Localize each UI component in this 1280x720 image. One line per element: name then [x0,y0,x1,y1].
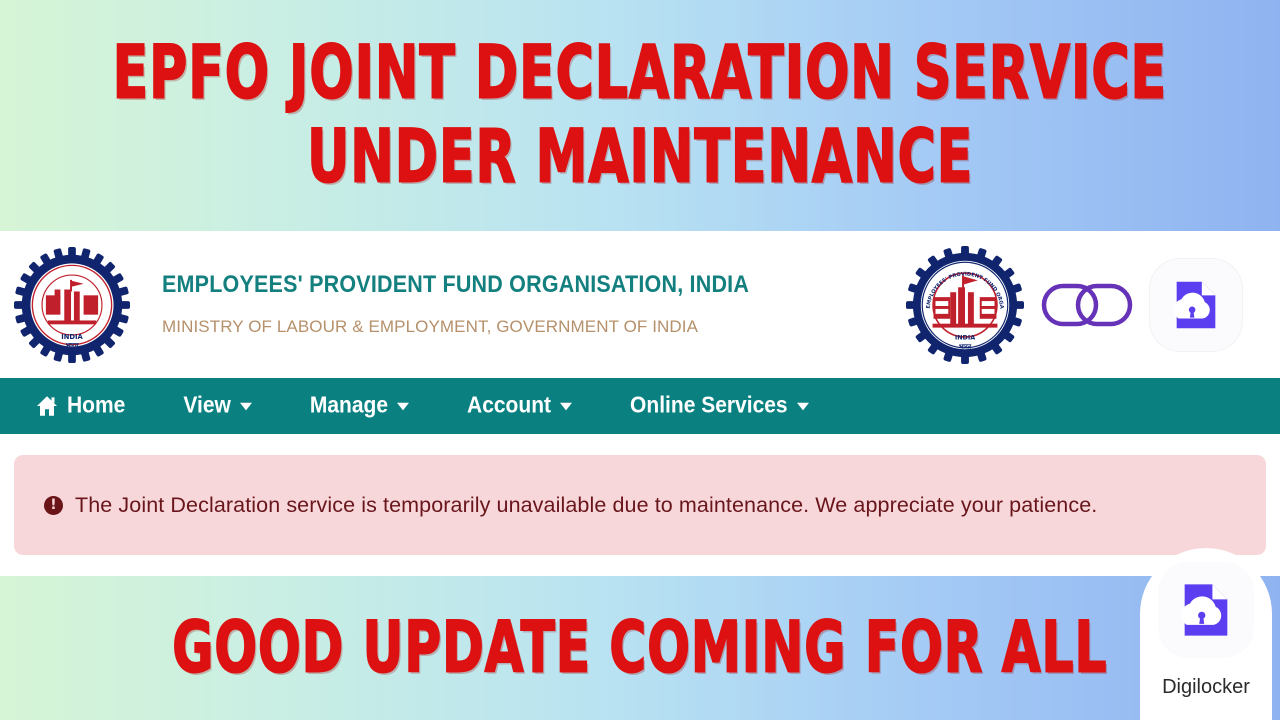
nav-item-home-label: Home [67,393,125,419]
digilocker-icon[interactable] [1150,259,1242,351]
nav-item-account[interactable]: Account [467,393,572,419]
svg-text:INDIA: INDIA [61,332,83,340]
digilocker-icon [1158,562,1254,658]
chevron-down-icon [240,402,252,410]
promo-headline-line-1: EPFO JOINT DECLARATION SERVICE [113,37,1167,111]
promo-banner-top: EPFO JOINT DECLARATION SERVICE UNDER MAI… [0,0,1280,231]
svg-text:भारत: भारत [959,342,972,350]
page-root: EPFO JOINT DECLARATION SERVICE UNDER MAI… [0,0,1280,720]
maintenance-alert-message: The Joint Declaration service is tempora… [75,493,1097,518]
site-header: INDIA भारत EMPLOYEES' PROVIDENT FUND ORG… [0,231,1280,378]
chain-link-icon [1040,274,1134,336]
alert-region: ! The Joint Declaration service is tempo… [0,434,1280,576]
nav-item-manage[interactable]: Manage [310,393,409,419]
nav-item-view[interactable]: View [183,393,251,419]
digilocker-floating-button[interactable]: Digilocker [1140,548,1272,720]
exclamation-circle-icon: ! [44,496,63,515]
svg-text:INDIA: INDIA [955,333,975,341]
epfo-emblem-icon: INDIA भारत [14,247,130,363]
organisation-title: EMPLOYEES' PROVIDENT FUND ORGANISATION, … [162,271,749,299]
header-logo-group: EMPLOYEES' PROVIDENT FUND ORGANISATION [906,246,1280,364]
chevron-down-icon [560,402,572,410]
ministry-subtitle: MINISTRY OF LABOUR & EMPLOYMENT, GOVERNM… [162,317,749,337]
nav-item-view-label: View [183,393,230,419]
home-icon [36,395,58,417]
promo-headline-line-2: UNDER MAINTENANCE [307,120,973,194]
promo-headline-line-3: GOOD UPDATE COMING FOR ALL [172,612,1107,684]
nav-item-online-services[interactable]: Online Services [630,393,809,419]
nav-item-online-services-label: Online Services [630,393,788,419]
header-branding: INDIA भारत EMPLOYEES' PROVIDENT FUND ORG… [0,247,749,363]
nav-item-home[interactable]: Home [36,393,125,419]
digilocker-label: Digilocker [1162,676,1250,699]
chevron-down-icon [397,402,409,410]
maintenance-alert: ! The Joint Declaration service is tempo… [14,455,1266,555]
header-title-block: EMPLOYEES' PROVIDENT FUND ORGANISATION, … [162,272,749,337]
nav-item-account-label: Account [467,393,551,419]
epfo-emblem-icon: EMPLOYEES' PROVIDENT FUND ORGANISATION [906,246,1024,364]
svg-text:भारत: भारत [65,341,79,349]
main-navigation: Home View Manage Account Online Services [0,378,1280,434]
nav-item-manage-label: Manage [310,393,388,419]
promo-banner-bottom: GOOD UPDATE COMING FOR ALL [0,576,1280,720]
chevron-down-icon [797,402,809,410]
